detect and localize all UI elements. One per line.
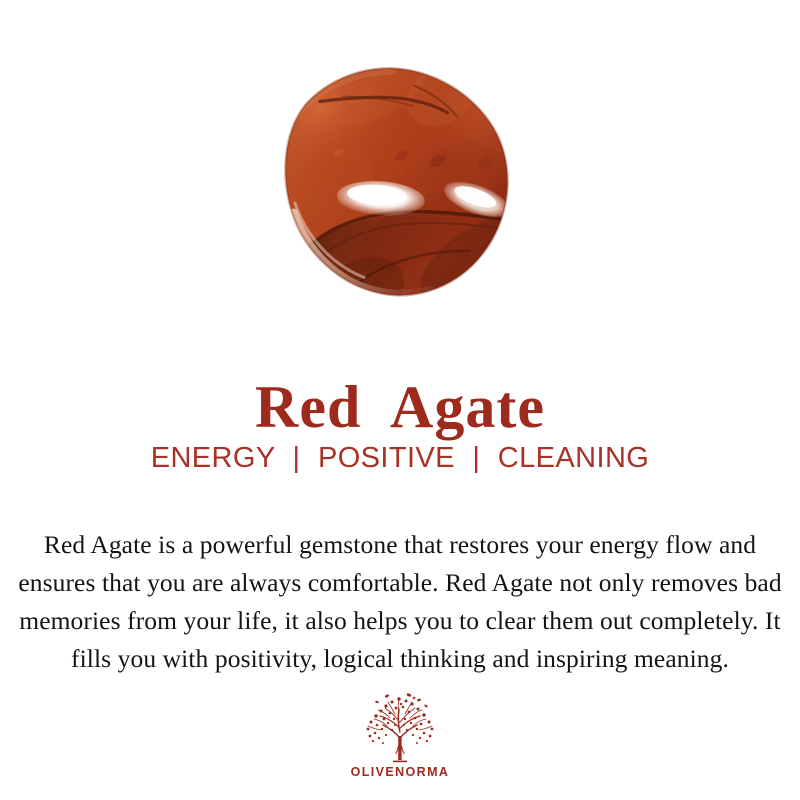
- keyword-energy: ENERGY: [151, 442, 275, 474]
- tree-of-life-icon: [357, 692, 443, 764]
- keyword-positive: POSITIVE: [318, 442, 455, 474]
- brand-wordmark: OLIVENORMA: [0, 765, 800, 779]
- red-agate-tumbled-stone-icon: [270, 55, 530, 305]
- keyword-separator: |: [463, 442, 489, 474]
- product-description: Red Agate is a powerful gemstone that re…: [18, 526, 782, 678]
- page-title: Red Agate: [0, 376, 800, 439]
- gemstone-image-area: [0, 55, 800, 315]
- keyword-cleaning: CLEANING: [498, 442, 649, 474]
- product-info-card: Red Agate ENERGY | POSITIVE | CLEANING R…: [0, 0, 800, 800]
- brand-logo: OLIVENORMA: [0, 692, 800, 779]
- keyword-separator: |: [284, 442, 310, 474]
- keyword-line: ENERGY | POSITIVE | CLEANING: [0, 443, 800, 475]
